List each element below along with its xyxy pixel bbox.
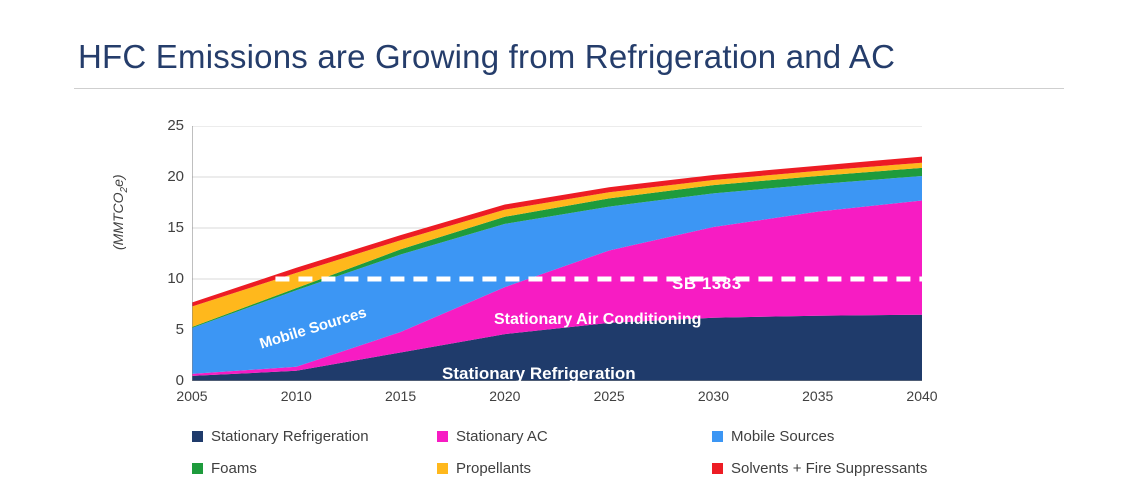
y-axis-ticks: 0510152025: [138, 126, 184, 381]
legend-item-stationary-ac[interactable]: Stationary AC: [437, 428, 712, 445]
y-axis-tick-label: 20: [144, 168, 184, 185]
x-axis-tick-label: 2035: [802, 388, 833, 404]
legend-swatch-icon: [192, 431, 203, 442]
x-axis-tick-label: 2020: [489, 388, 520, 404]
legend-swatch-icon: [712, 463, 723, 474]
x-axis-tick-label: 2015: [385, 388, 416, 404]
page-title: HFC Emissions are Growing from Refrigera…: [78, 38, 895, 76]
legend-item-label: Solvents + Fire Suppressants: [731, 460, 927, 477]
y-axis-tick-label: 10: [144, 270, 184, 287]
title-divider: [74, 88, 1064, 89]
legend-row: Stationary RefrigerationStationary ACMob…: [192, 420, 992, 452]
legend-row: FoamsPropellantsSolvents + Fire Suppress…: [192, 452, 992, 484]
plot-svg: [192, 126, 922, 381]
legend-item-mobile-sources[interactable]: Mobile Sources: [712, 428, 834, 445]
x-axis-tick-label: 2025: [594, 388, 625, 404]
x-axis-tick-label: 2005: [176, 388, 207, 404]
legend-item-solvents-fire-suppressants[interactable]: Solvents + Fire Suppressants: [712, 460, 927, 477]
legend-item-propellants[interactable]: Propellants: [437, 460, 712, 477]
legend-item-label: Foams: [211, 460, 257, 477]
hfc-emissions-stacked-area-chart: (MMTCO2e) 0510152025 Mobile Sources Stat…: [0, 100, 1140, 500]
y-axis-tick-label: 15: [144, 219, 184, 236]
x-axis-tick-label: 2040: [906, 388, 937, 404]
legend-swatch-icon: [712, 431, 723, 442]
legend-swatch-icon: [437, 431, 448, 442]
x-axis-ticks: 20052010201520202025203020352040: [192, 388, 922, 410]
legend-item-label: Propellants: [456, 460, 531, 477]
y-axis-tick-label: 25: [144, 117, 184, 134]
legend-item-label: Stationary Refrigeration: [211, 428, 369, 445]
legend-swatch-icon: [192, 463, 203, 474]
y-axis-tick-label: 5: [144, 321, 184, 338]
legend-item-label: Mobile Sources: [731, 428, 834, 445]
legend-item-stationary-refrigeration[interactable]: Stationary Refrigeration: [192, 428, 437, 445]
y-axis-tick-label: 0: [144, 372, 184, 389]
legend-swatch-icon: [437, 463, 448, 474]
x-axis-tick-label: 2010: [281, 388, 312, 404]
y-axis-title: (MMTCO2e): [110, 174, 130, 250]
x-axis-tick-label: 2030: [698, 388, 729, 404]
legend-item-label: Stationary AC: [456, 428, 548, 445]
plot-area: Mobile Sources Stationary Air Conditioni…: [192, 126, 922, 381]
legend-item-foams[interactable]: Foams: [192, 460, 437, 477]
chart-legend: Stationary RefrigerationStationary ACMob…: [192, 420, 992, 484]
